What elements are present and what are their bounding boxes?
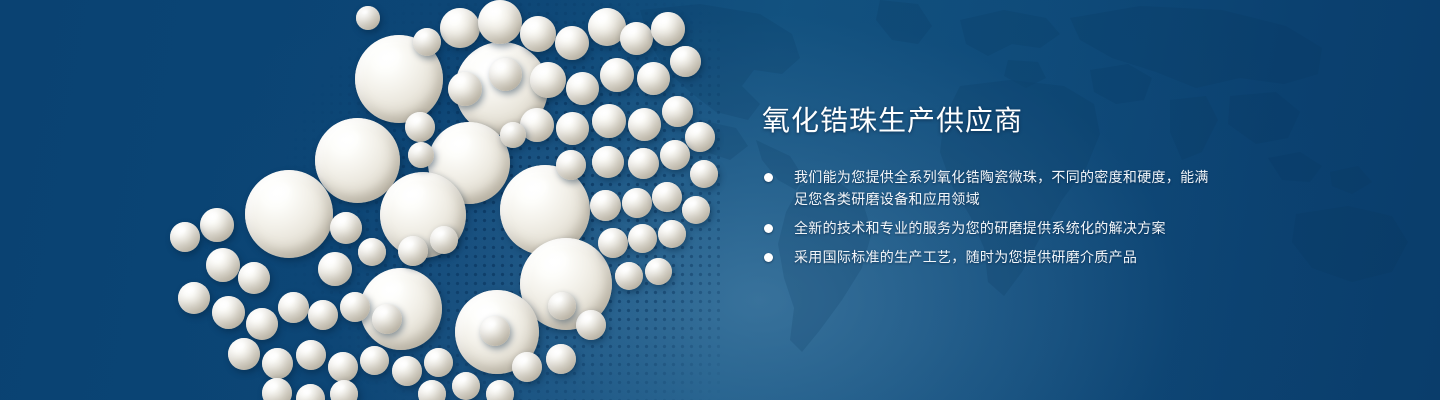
zirconia-bead (670, 46, 701, 77)
zirconia-bead (615, 262, 643, 290)
zirconia-bead (628, 148, 659, 179)
zirconia-bead (600, 58, 634, 92)
zirconia-bead (245, 170, 333, 258)
zirconia-bead (360, 268, 442, 350)
feature-bullet-list: 我们能为您提供全系列氧化锆陶瓷微珠，不同的密度和硬度，能满足您各类研磨设备和应用… (762, 166, 1222, 268)
zirconia-bead (478, 0, 522, 44)
zirconia-bead (556, 112, 589, 145)
bullet-dot-icon (764, 253, 773, 262)
zirconia-bead (296, 340, 326, 370)
zirconia-bead (296, 384, 325, 400)
zirconia-bead (360, 346, 389, 375)
zirconia-bead (658, 220, 686, 248)
zirconia-bead (555, 26, 589, 60)
zirconia-bead (455, 42, 548, 135)
zirconia-bead (645, 258, 672, 285)
zirconia-bead (418, 380, 446, 400)
page-title: 氧化锆珠生产供应商 (762, 104, 1222, 138)
zirconia-bead (500, 165, 590, 255)
zirconia-bead (308, 300, 338, 330)
zirconia-bead (548, 292, 576, 320)
world-map-background (0, 0, 1440, 400)
zirconia-bead (690, 160, 718, 188)
zirconia-bead (200, 208, 234, 242)
zirconia-bead (682, 196, 710, 224)
zirconia-bead (556, 150, 586, 180)
feature-bullet-item: 采用国际标准的生产工艺，随时为您提供研磨介质产品 (762, 246, 1222, 268)
bullet-dot-icon (764, 224, 773, 233)
zirconia-bead (588, 8, 626, 46)
zirconia-bead (262, 348, 293, 379)
zirconia-bead (178, 282, 210, 314)
zirconia-bead (592, 146, 624, 178)
feature-bullet-item: 全新的技术和专业的服务为您的研磨提供系统化的解决方案 (762, 217, 1222, 239)
zirconia-bead (452, 372, 480, 400)
zirconia-bead (330, 380, 358, 400)
zirconia-bead (424, 348, 453, 377)
zirconia-bead (598, 228, 628, 258)
zirconia-bead (228, 338, 260, 370)
zirconia-bead (486, 380, 514, 400)
zirconia-bead (405, 112, 435, 142)
zirconia-bead (448, 72, 482, 106)
zirconia-bead (262, 378, 292, 400)
zirconia-bead (660, 140, 690, 170)
zirconia-bead (455, 290, 539, 374)
halftone-dot-pattern (120, 0, 720, 400)
zirconia-bead (520, 16, 556, 52)
zirconia-bead (622, 188, 652, 218)
zirconia-bead (356, 6, 380, 30)
zirconia-bead (340, 292, 370, 322)
zirconia-bead (408, 142, 434, 168)
zirconia-bead (380, 172, 466, 258)
zirconia-bead (206, 248, 240, 282)
zirconia-bead (592, 104, 626, 138)
zirconia-bead (238, 262, 270, 294)
zirconia-bead (358, 238, 386, 266)
feature-bullet-text: 采用国际标准的生产工艺，随时为您提供研磨介质产品 (794, 249, 1137, 265)
zirconia-bead (520, 108, 554, 142)
bullet-dot-icon (764, 173, 773, 182)
zirconia-bead (628, 224, 657, 253)
zirconia-bead (428, 122, 510, 204)
zirconia-bead (530, 62, 566, 98)
zirconia-bead (278, 292, 309, 323)
zirconia-bead (628, 108, 661, 141)
feature-bullet-text: 我们能为您提供全系列氧化锆陶瓷微珠，不同的密度和硬度，能满足您各类研磨设备和应用… (794, 169, 1209, 207)
zirconia-bead (392, 356, 422, 386)
zirconia-bead (652, 182, 682, 212)
zirconia-bead (489, 58, 522, 91)
zirconia-bead (590, 190, 621, 221)
zirconia-bead (330, 212, 362, 244)
zirconia-bead (651, 12, 685, 46)
zirconia-bead (372, 304, 402, 334)
zirconia-bead (480, 316, 510, 346)
zirconia-bead (430, 226, 458, 254)
zirconia-bead (520, 238, 612, 330)
zirconia-bead (318, 252, 352, 286)
zirconia-bead (512, 352, 542, 382)
zirconia-bead (546, 344, 576, 374)
zirconia-bead (398, 236, 428, 266)
zirconia-bead (212, 296, 245, 329)
zirconia-bead (500, 122, 526, 148)
zirconia-bead (566, 72, 599, 105)
banner-copy: 氧化锆珠生产供应商 我们能为您提供全系列氧化锆陶瓷微珠，不同的密度和硬度，能满足… (762, 104, 1222, 268)
zirconia-bead (413, 28, 441, 56)
zirconia-bead (315, 118, 400, 203)
zirconia-bead (637, 62, 670, 95)
zirconia-beads-image (0, 0, 760, 400)
feature-bullet-text: 全新的技术和专业的服务为您的研磨提供系统化的解决方案 (794, 220, 1166, 236)
feature-bullet-item: 我们能为您提供全系列氧化锆陶瓷微珠，不同的密度和硬度，能满足您各类研磨设备和应用… (762, 166, 1222, 210)
zirconia-bead (246, 308, 278, 340)
zirconia-bead (576, 310, 606, 340)
zirconia-bead (355, 35, 443, 123)
zirconia-bead (685, 122, 715, 152)
product-banner: 氧化锆珠生产供应商 我们能为您提供全系列氧化锆陶瓷微珠，不同的密度和硬度，能满足… (0, 0, 1440, 400)
zirconia-bead (662, 96, 693, 127)
zirconia-bead (440, 8, 480, 48)
zirconia-bead (620, 22, 653, 55)
zirconia-bead (170, 222, 200, 252)
zirconia-bead (328, 352, 358, 382)
